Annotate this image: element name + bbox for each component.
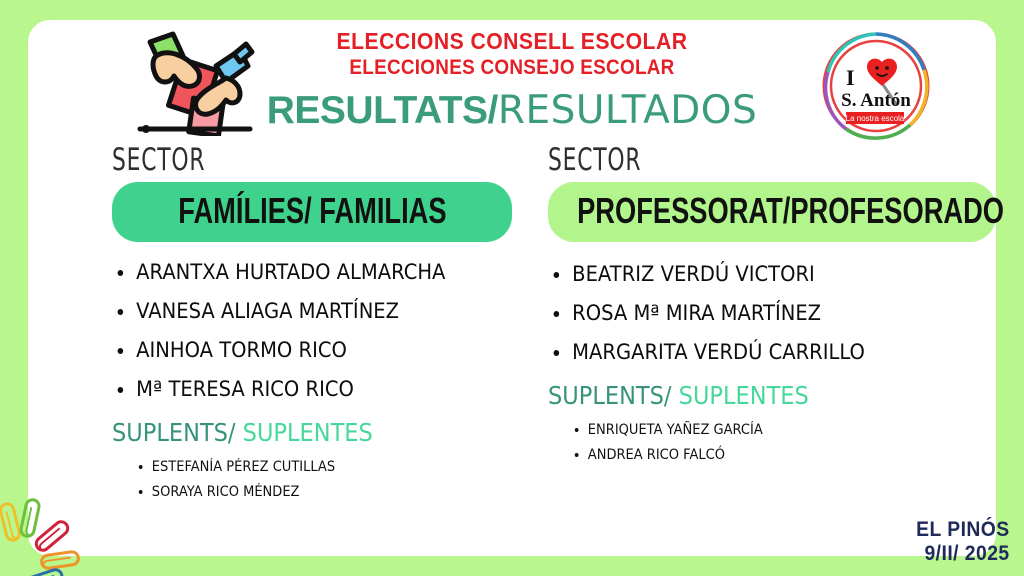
school-logo-icon: I S. Antón La nostra escola [820, 30, 932, 142]
column-professorat: SECTOR PROFESSORAT/PROFESORADO BEATRIZ V… [548, 143, 996, 472]
poster-root: ELECCIONS CONSELL ESCOLAR ELECCIONES CON… [0, 0, 1024, 576]
names-list-professorat: BEATRIZ VERDÚ VICTORI ROSA Mª MIRA MARTÍ… [548, 264, 996, 363]
paperclip-yellow [0, 501, 23, 544]
list-item: ANDREA RICO FALCÓ [572, 447, 966, 463]
suplents-heading-catalan: SUPLENTS/ [112, 418, 236, 447]
pill-families: FAMÍLIES/ FAMILIAS [112, 182, 512, 242]
suplents-heading-catalan: SUPLENTS/ [548, 381, 672, 410]
header-line-spanish: ELECCIONES CONSEJO ESCOLAR [287, 56, 737, 80]
list-item: ENRIQUETA YAÑEZ GARCÍA [572, 422, 966, 438]
list-item: ESTEFANÍA PÉREZ CUTILLAS [136, 459, 486, 475]
page-title: RESULTATS/RESULTADOS [262, 88, 762, 133]
suplents-list-families: ESTEFANÍA PÉREZ CUTILLAS SORAYA RICO MÉN… [112, 459, 512, 500]
suplents-heading-right: SUPLENTS/ SUPLENTES [548, 381, 951, 410]
sector-label-left: SECTOR [112, 141, 424, 178]
list-item: ARANTXA HURTADO ALMARCHA [112, 262, 484, 283]
ballot-box-hands-icon [128, 26, 256, 136]
list-item: AINHOA TORMO RICO [112, 340, 484, 361]
page-title-catalan: RESULTATS/ [267, 89, 498, 132]
header-text-block: ELECCIONS CONSELL ESCOLAR ELECCIONES CON… [262, 28, 762, 133]
column-families: SECTOR FAMÍLIES/ FAMILIAS ARANTXA HURTAD… [112, 143, 512, 509]
footer-place: EL PINÓS [916, 518, 1010, 542]
list-item: BEATRIZ VERDÚ VICTORI [548, 264, 965, 285]
list-item: ROSA Mª MIRA MARTÍNEZ [548, 303, 965, 324]
list-item: VANESA ALIAGA MARTÍNEZ [112, 301, 484, 322]
sector-label-right: SECTOR [548, 141, 897, 178]
pill-professorat: PROFESSORAT/PROFESORADO [548, 182, 996, 242]
pill-professorat-label: PROFESSORAT/PROFESORADO [577, 190, 1004, 232]
paperclip-decoration-group [0, 486, 120, 576]
suplents-heading-spanish: SUPLENTES [672, 381, 809, 410]
footer-date-block: EL PINÓS 9/II/ 2025 [908, 518, 1010, 566]
names-list-families: ARANTXA HURTADO ALMARCHA VANESA ALIAGA M… [112, 262, 512, 400]
list-item: Mª TERESA RICO RICO [112, 379, 484, 400]
svg-text:I: I [846, 65, 855, 90]
suplents-heading-left: SUPLENTS/ SUPLENTES [112, 418, 472, 447]
paperclip-red [32, 517, 73, 555]
svg-text:La nostra escola: La nostra escola [846, 114, 905, 123]
page-title-spanish: RESULTADOS [498, 88, 757, 133]
pill-families-label: FAMÍLIES/ FAMILIAS [178, 190, 446, 232]
footer-date: 9/II/ 2025 [916, 542, 1010, 566]
suplents-heading-spanish: SUPLENTES [236, 418, 373, 447]
suplents-list-professorat: ENRIQUETA YAÑEZ GARCÍA ANDREA RICO FALCÓ [548, 422, 996, 463]
paperclip-green [18, 497, 42, 539]
paperclip-orange [39, 549, 81, 570]
list-item: SORAYA RICO MÉNDEZ [136, 484, 486, 500]
svg-text:S. Antón: S. Antón [841, 90, 911, 111]
list-item: MARGARITA VERDÚ CARRILLO [548, 342, 965, 363]
header-line-catalan: ELECCIONS CONSELL ESCOLAR [282, 28, 742, 55]
